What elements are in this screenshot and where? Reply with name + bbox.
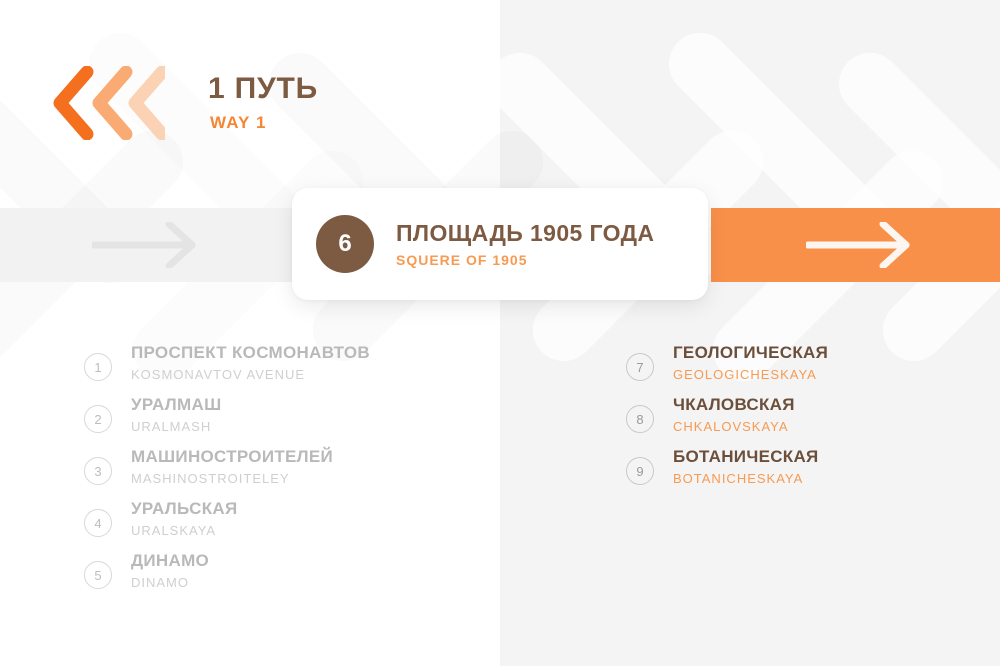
upcoming-stations-list: 7 ГЕОЛОГИЧЕСКАЯ GEOLOGICHESKAYA 8 ЧКАЛОВ… <box>626 344 828 500</box>
arrow-right-icon <box>92 222 200 268</box>
station-number: 2 <box>84 405 112 433</box>
list-item: 4 УРАЛЬСКАЯ URALSKAYA <box>84 500 370 552</box>
station-translit: MASHINOSTROITELEY <box>131 472 333 485</box>
station-name: ГЕОЛОГИЧЕСКАЯ <box>673 344 828 363</box>
current-station-translit: SQUERE OF 1905 <box>396 253 654 267</box>
station-text: МАШИНОСТРОИТЕЛЕЙ MASHINOSTROITELEY <box>131 448 333 485</box>
list-item: 5 ДИНАМО DINAMO <box>84 552 370 604</box>
station-number: 3 <box>84 457 112 485</box>
station-translit: KOSMONAVTOV AVENUE <box>131 368 370 381</box>
station-translit: GEOLOGICHESKAYA <box>673 368 828 381</box>
background-panel-right <box>500 0 1000 666</box>
direction-band-right <box>711 208 1000 282</box>
station-text: УРАЛМАШ URALMASH <box>131 396 221 433</box>
station-translit: DINAMO <box>131 576 209 589</box>
station-number: 7 <box>626 353 654 381</box>
station-number: 1 <box>84 353 112 381</box>
station-text: ПРОСПЕКТ КОСМОНАВТОВ KOSMONAVTOV AVENUE <box>131 344 370 381</box>
station-text: ГЕОЛОГИЧЕСКАЯ GEOLOGICHESKAYA <box>673 344 828 381</box>
station-text: УРАЛЬСКАЯ URALSKAYA <box>131 500 237 537</box>
page-title: 1 ПУТЬ <box>208 74 318 104</box>
list-item: 8 ЧКАЛОВСКАЯ CHKALOVSKAYA <box>626 396 828 448</box>
station-number: 8 <box>626 405 654 433</box>
current-station-text: ПЛОЩАДЬ 1905 ГОДА SQUERE OF 1905 <box>396 221 654 267</box>
current-station-name: ПЛОЩАДЬ 1905 ГОДА <box>396 221 654 246</box>
page-subtitle: WAY 1 <box>210 114 267 131</box>
station-text: ДИНАМО DINAMO <box>131 552 209 589</box>
station-number: 4 <box>84 509 112 537</box>
station-text: ЧКАЛОВСКАЯ CHKALOVSKAYA <box>673 396 795 433</box>
list-item: 3 МАШИНОСТРОИТЕЛЕЙ MASHINOSTROITELEY <box>84 448 370 500</box>
current-station-card: 6 ПЛОЩАДЬ 1905 ГОДА SQUERE OF 1905 <box>292 188 708 300</box>
passed-stations-list: 1 ПРОСПЕКТ КОСМОНАВТОВ KOSMONAVTOV AVENU… <box>84 344 370 604</box>
station-name: УРАЛМАШ <box>131 396 221 415</box>
station-translit: CHKALOVSKAYA <box>673 420 795 433</box>
station-number: 5 <box>84 561 112 589</box>
station-translit: BOTANICHESKAYA <box>673 472 819 485</box>
station-name: УРАЛЬСКАЯ <box>131 500 237 519</box>
station-name: ЧКАЛОВСКАЯ <box>673 396 795 415</box>
station-translit: URALMASH <box>131 420 221 433</box>
list-item: 2 УРАЛМАШ URALMASH <box>84 396 370 448</box>
station-name: МАШИНОСТРОИТЕЛЕЙ <box>131 448 333 467</box>
metro-route-display: 1 ПУТЬ WAY 1 6 ПЛОЩАДЬ 1905 ГОДА SQUERE … <box>0 0 1000 666</box>
station-text: БОТАНИЧЕСКАЯ BOTANICHESKAYA <box>673 448 819 485</box>
list-item: 1 ПРОСПЕКТ КОСМОНАВТОВ KOSMONAVTOV AVENU… <box>84 344 370 396</box>
station-translit: URALSKAYA <box>131 524 237 537</box>
station-number: 9 <box>626 457 654 485</box>
list-item: 7 ГЕОЛОГИЧЕСКАЯ GEOLOGICHESKAYA <box>626 344 828 396</box>
station-name: БОТАНИЧЕСКАЯ <box>673 448 819 467</box>
station-name: ПРОСПЕКТ КОСМОНАВТОВ <box>131 344 370 363</box>
arrow-right-icon <box>806 222 914 268</box>
current-station-number: 6 <box>316 215 374 273</box>
station-name: ДИНАМО <box>131 552 209 571</box>
list-item: 9 БОТАНИЧЕСКАЯ BOTANICHESKAYA <box>626 448 828 500</box>
direction-band-left <box>0 208 300 282</box>
triple-chevron-left-icon <box>50 66 165 140</box>
